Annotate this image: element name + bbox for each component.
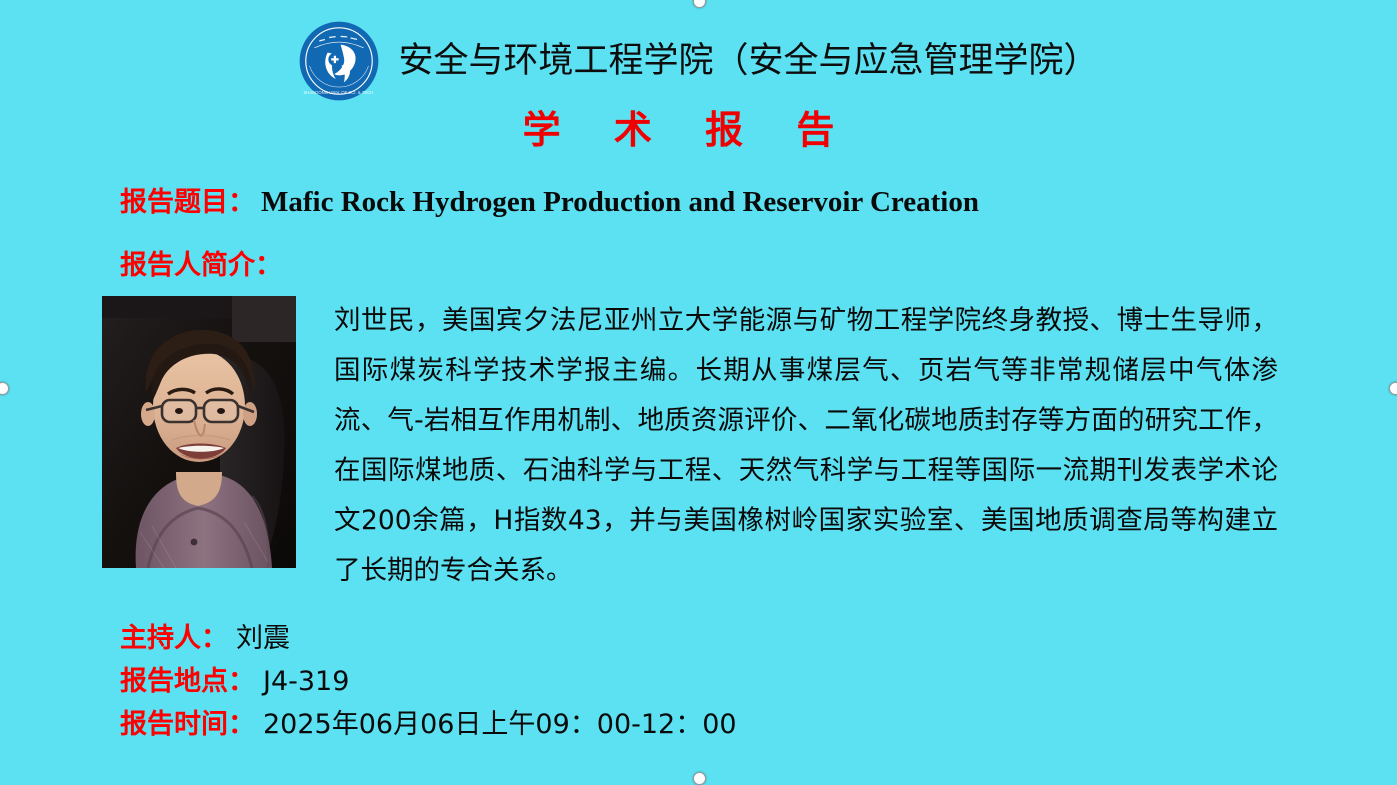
- time-value: 2025年06月06日上午09：00-12：00: [263, 702, 737, 741]
- poster-header: SHANDONG UNIV. OF SCI. & TECH. 安全与环境工程学院…: [0, 0, 1397, 102]
- speaker-biography: 刘世民，美国宾夕法尼亚州立大学能源与矿物工程学院终身教授、博士生导师，国际煤炭科…: [334, 296, 1278, 596]
- speaker-section: 刘世民，美国宾夕法尼亚州立大学能源与矿物工程学院终身教授、博士生导师，国际煤炭科…: [102, 296, 1282, 596]
- venue-value: J4-319: [263, 666, 349, 697]
- selection-handle-left[interactable]: [0, 382, 9, 395]
- college-name: 安全与环境工程学院（安全与应急管理学院）: [398, 44, 1098, 79]
- university-logo-icon: SHANDONG UNIV. OF SCI. & TECH.: [298, 20, 380, 102]
- time-row: 报告时间： 2025年06月06日上午09：00-12：00: [120, 702, 737, 741]
- host-label: 主持人：: [120, 616, 228, 655]
- venue-row: 报告地点： J4-319: [120, 659, 349, 698]
- venue-label: 报告地点：: [120, 659, 255, 698]
- banner-academic-report: 学 术 报 告: [0, 110, 1397, 152]
- report-title-row: 报告题目： Mafic Rock Hydrogen Production and…: [120, 180, 979, 219]
- selection-handle-bottom[interactable]: [693, 772, 706, 785]
- speaker-bio-heading: 报告人简介：: [120, 243, 282, 282]
- speaker-portrait: [102, 296, 296, 568]
- host-value: 刘震: [236, 616, 290, 655]
- speaker-bio-label: 报告人简介：: [120, 243, 282, 282]
- svg-text:SHANDONG UNIV. OF SCI. & TECH.: SHANDONG UNIV. OF SCI. & TECH.: [304, 90, 375, 95]
- report-title-value: Mafic Rock Hydrogen Production and Reser…: [261, 186, 979, 219]
- selection-handle-right[interactable]: [1389, 382, 1397, 395]
- host-row: 主持人： 刘震: [120, 616, 290, 655]
- report-title-label: 报告题目：: [120, 180, 255, 219]
- time-label: 报告时间：: [120, 702, 255, 741]
